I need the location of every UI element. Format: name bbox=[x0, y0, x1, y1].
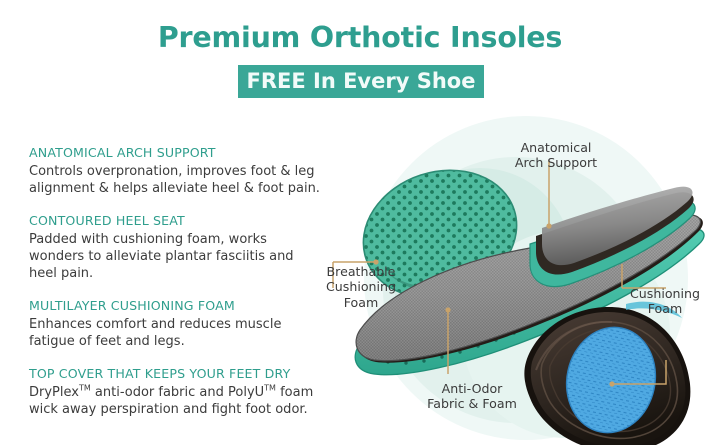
feature-multilayer-cushioning-foam: MULTILAYER CUSHIONING FOAM Enhances comf… bbox=[29, 298, 329, 350]
callout-anti-odor-fabric-and-foam: Anti-Odor Fabric & Foam bbox=[412, 381, 532, 412]
trademark-symbol: TM bbox=[79, 384, 91, 393]
feature-body-part2: anti-odor fabric and PolyU bbox=[91, 385, 264, 400]
callout-breathable-cushioning-foam: Breathable Cushioning Foam bbox=[313, 264, 409, 310]
callout-anatomical-arch-support: Anatomical Arch Support bbox=[498, 140, 614, 171]
callout-line: Arch Support bbox=[498, 155, 614, 170]
callout-line: Fabric & Foam bbox=[412, 396, 532, 411]
feature-contoured-heel-seat: CONTOURED HEEL SEAT Padded with cushioni… bbox=[29, 213, 329, 282]
feature-top-cover-keeps-feet-dry: TOP COVER THAT KEEPS YOUR FEET DRY DryPl… bbox=[29, 366, 329, 418]
feature-body: DryPlexTM anti-odor fabric and PolyUTM f… bbox=[29, 384, 321, 418]
callout-cushioning-foam: Cushioning Foam bbox=[617, 286, 713, 317]
feature-body: Controls overpronation, improves foot & … bbox=[29, 163, 321, 197]
callout-line: Cushioning bbox=[313, 279, 409, 294]
feature-body: Padded with cushioning foam, works wonde… bbox=[29, 231, 321, 282]
feature-heading: ANATOMICAL ARCH SUPPORT bbox=[29, 145, 329, 161]
callout-line: Anatomical bbox=[498, 140, 614, 155]
feature-list: ANATOMICAL ARCH SUPPORT Controls overpro… bbox=[29, 145, 329, 418]
feature-anatomical-arch-support: ANATOMICAL ARCH SUPPORT Controls overpro… bbox=[29, 145, 329, 197]
free-in-every-shoe-banner: FREE In Every Shoe bbox=[238, 65, 484, 98]
feature-body-part1: DryPlex bbox=[29, 385, 79, 400]
page-title: Premium Orthotic Insoles bbox=[0, 22, 720, 53]
trademark-symbol: TM bbox=[264, 384, 276, 393]
callout-line: Foam bbox=[617, 301, 713, 316]
callout-line: Foam bbox=[313, 295, 409, 310]
feature-heading: CONTOURED HEEL SEAT bbox=[29, 213, 329, 229]
callout-line: Breathable bbox=[313, 264, 409, 279]
feature-heading: MULTILAYER CUSHIONING FOAM bbox=[29, 298, 329, 314]
callout-line: Anti-Odor bbox=[412, 381, 532, 396]
free-banner-label: FREE In Every Shoe bbox=[247, 71, 476, 92]
callout-line: Cushioning bbox=[617, 286, 713, 301]
feature-body: Enhances comfort and reduces muscle fati… bbox=[29, 316, 321, 350]
feature-heading: TOP COVER THAT KEEPS YOUR FEET DRY bbox=[29, 366, 329, 382]
